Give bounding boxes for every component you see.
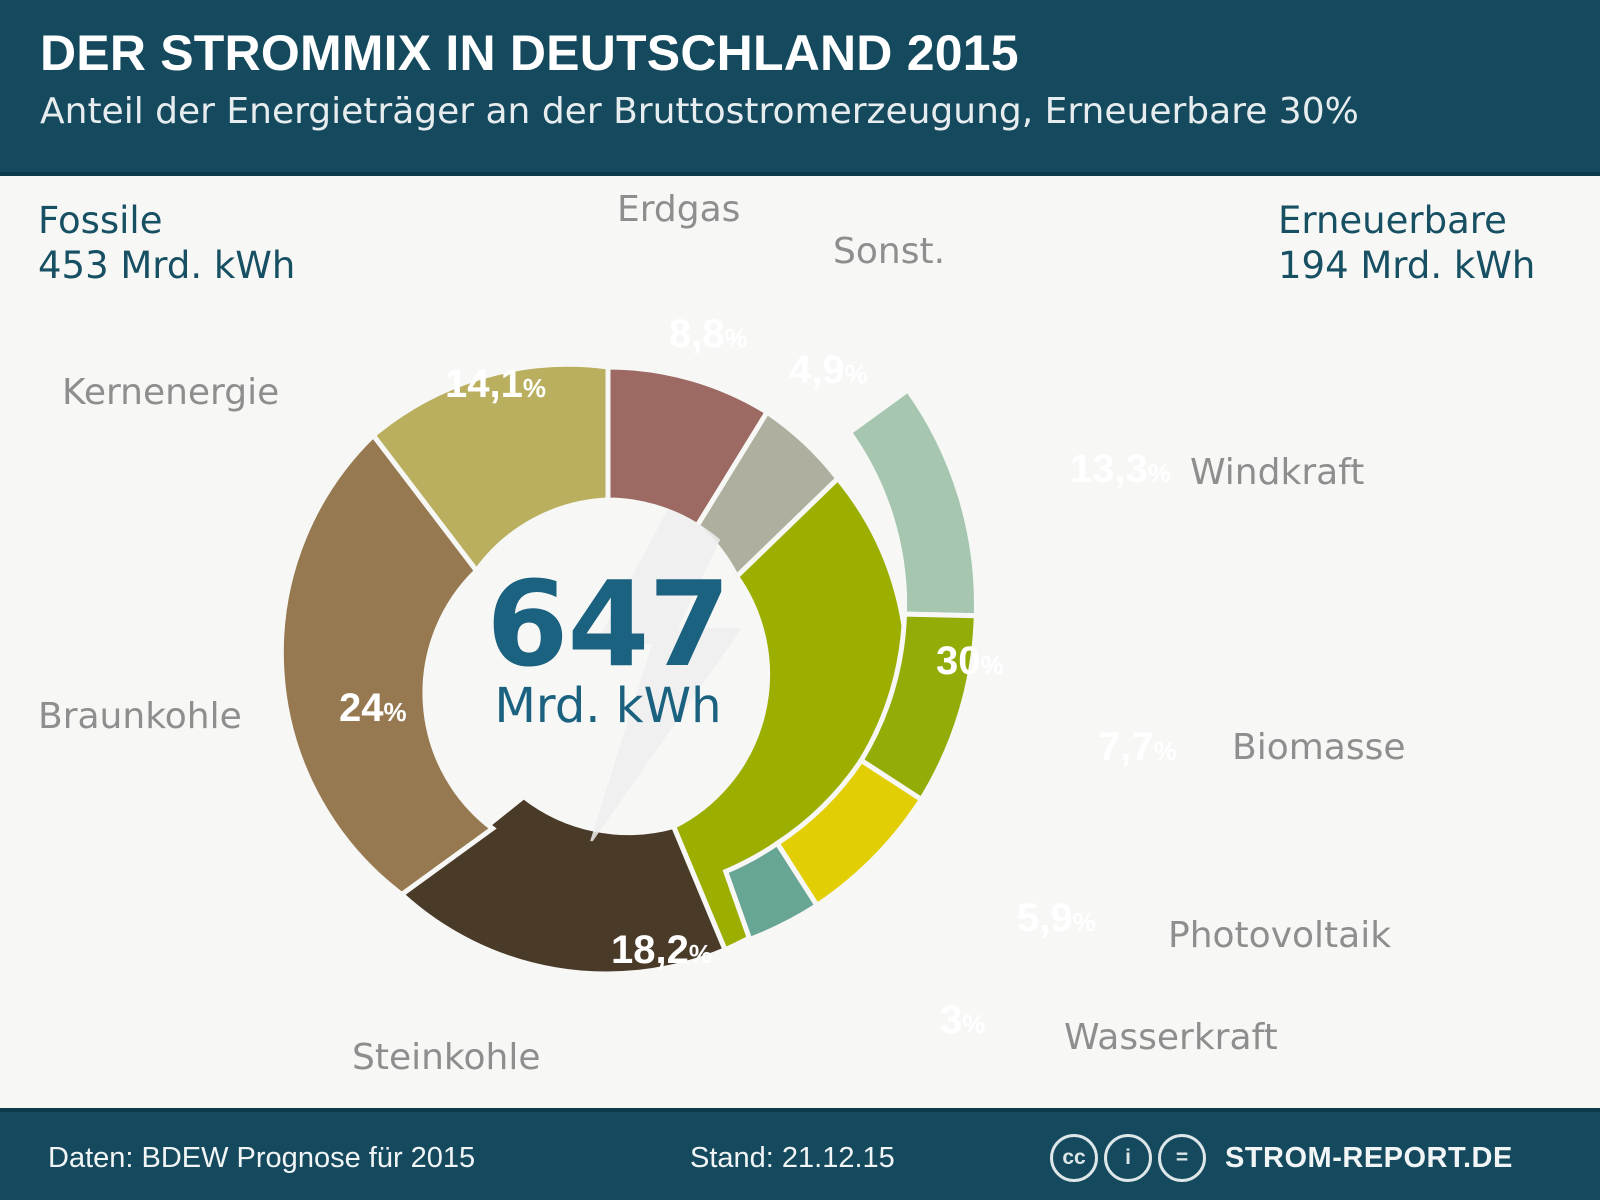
value-photovoltaik: 5,9%	[1017, 896, 1096, 941]
label-wasserkraft: Wasserkraft	[1064, 1017, 1278, 1058]
center-total-unit: Mrd. kWh	[398, 680, 818, 732]
cc-icon: cc	[1050, 1134, 1098, 1182]
center-total-value: 647	[398, 568, 818, 680]
value-windkraft: 13,3%	[1070, 447, 1171, 492]
group-fossil: Fossile 453 Mrd. kWh	[38, 198, 295, 288]
cc-by-person-icon: i	[1104, 1134, 1152, 1182]
group-renewable-value: 194 Mrd. kWh	[1278, 243, 1535, 288]
footer-website: STROM-REPORT.DE	[1225, 1142, 1513, 1175]
infographic-page: DER STROMMIX IN DEUTSCHLAND 2015 Anteil …	[0, 0, 1600, 1200]
value-sonstige: 4,9%	[789, 348, 868, 393]
center-total: 647 Mrd. kWh	[398, 568, 818, 732]
group-renewable: Erneuerbare 194 Mrd. kWh	[1278, 198, 1535, 288]
value-steinkohle: 18,2%	[611, 928, 712, 973]
page-subtitle: Anteil der Energieträger an der Bruttost…	[40, 86, 1560, 138]
value-erneuerbare: 30%	[936, 639, 1004, 684]
value-wasserkraft: 3%	[940, 998, 985, 1043]
footer-bar: Daten: BDEW Prognose für 2015 Stand: 21.…	[0, 1108, 1600, 1200]
label-erdgas: Erdgas	[617, 189, 740, 230]
label-steinkohle: Steinkohle	[352, 1037, 541, 1078]
group-fossil-value: 453 Mrd. kWh	[38, 243, 295, 288]
footer-source: Daten: BDEW Prognose für 2015	[48, 1142, 475, 1175]
label-sonstige: Sonst.	[833, 231, 945, 272]
value-kernenergie: 14,1%	[445, 362, 546, 407]
creative-commons-badges: cc i =	[1050, 1134, 1206, 1182]
value-biomasse: 7,7%	[1098, 725, 1177, 770]
value-erdgas: 8,8%	[669, 312, 748, 357]
label-braunkohle: Braunkohle	[38, 696, 242, 737]
group-renewable-name: Erneuerbare	[1278, 198, 1535, 243]
page-title: DER STROMMIX IN DEUTSCHLAND 2015	[40, 22, 1560, 84]
label-photovoltaik: Photovoltaik	[1168, 915, 1391, 956]
header-banner: DER STROMMIX IN DEUTSCHLAND 2015 Anteil …	[0, 0, 1600, 176]
cc-nd-equals-icon: =	[1158, 1134, 1206, 1182]
group-fossil-name: Fossile	[38, 198, 295, 243]
label-windkraft: Windkraft	[1190, 452, 1364, 493]
value-braunkohle: 24%	[339, 686, 407, 731]
donut-chart: Fossile 453 Mrd. kWh Erneuerbare 194 Mrd…	[0, 176, 1600, 1108]
label-biomasse: Biomasse	[1232, 727, 1406, 768]
label-kernenergie: Kernenergie	[62, 372, 279, 413]
footer-date: Stand: 21.12.15	[690, 1142, 895, 1175]
